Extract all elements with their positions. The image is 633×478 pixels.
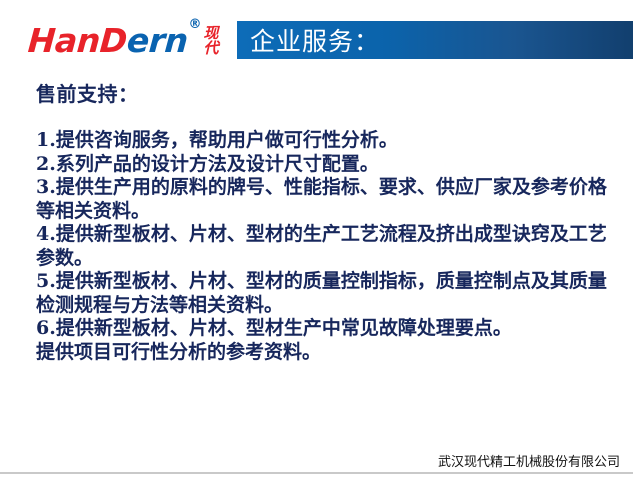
list-item: 4.提供新型板材、片材、型材的生产工艺流程及挤出成型诀窍及工艺参数。 bbox=[36, 223, 619, 270]
list-item: 6.提供新型板材、片材、型材生产中常见故障处理要点。 bbox=[36, 317, 619, 341]
banner-title-text: 企业服务： bbox=[250, 22, 380, 58]
logo-chinese-mark: 现 代 bbox=[203, 26, 218, 55]
list-item: 3.提供生产用的原料的牌号、性能指标、要求、供应厂家及参考价格等相关资料。 bbox=[36, 176, 619, 223]
footer-divider bbox=[0, 472, 633, 474]
list-item: 提供项目可行性分析的参考资料。 bbox=[36, 341, 619, 365]
registered-trademark-icon: ® bbox=[188, 18, 201, 31]
logo-text-han-d: HanD bbox=[27, 24, 128, 57]
logo-text-ern: ern bbox=[126, 24, 189, 57]
list-item: 2.系列产品的设计方法及设计尺寸配置。 bbox=[36, 153, 619, 177]
footer-company-name: 武汉现代精工机械股份有限公司 bbox=[438, 451, 620, 470]
page-header: HanDern® 现 代 企业服务： bbox=[0, 0, 633, 70]
support-item-list: 1.提供咨询服务，帮助用户做可行性分析。 2.系列产品的设计方法及设计尺寸配置。… bbox=[0, 129, 633, 364]
slide-content: 售前支持： 1.提供咨询服务，帮助用户做可行性分析。 2.系列产品的设计方法及设… bbox=[0, 70, 633, 364]
list-item: 1.提供咨询服务，帮助用户做可行性分析。 bbox=[36, 129, 619, 153]
list-item: 5.提供新型板材、片材、型材的质量控制指标，质量控制点及其质量检测规程与方法等相… bbox=[36, 270, 619, 317]
logo-cn-char-bottom: 代 bbox=[203, 41, 218, 55]
title-banner: 企业服务： bbox=[237, 21, 633, 59]
section-heading: 售前支持： bbox=[36, 78, 633, 107]
company-logo: HanDern® 现 代 bbox=[28, 18, 218, 62]
